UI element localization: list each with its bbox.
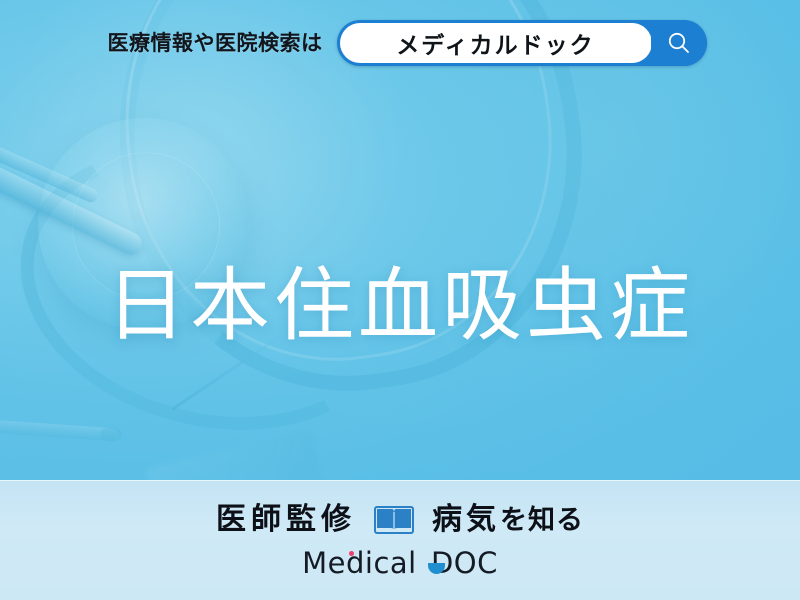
brand-logo-i-dot bbox=[349, 551, 354, 556]
know-disease-strong: 病気 bbox=[432, 503, 500, 536]
article-hero-card: 医療情報や医院検索は メディカルドック 日本住血吸虫症 医師監修 bbox=[0, 0, 800, 600]
search-submit-button[interactable] bbox=[651, 20, 707, 66]
search-input[interactable]: メディカルドック bbox=[340, 23, 652, 63]
page-title: 日本住血吸虫症 bbox=[106, 266, 694, 346]
brand-logo-row: Medical DOC bbox=[0, 543, 800, 583]
brand-logo-word-1: Medical bbox=[302, 546, 417, 580]
footer-tagline-row: 医師監修 病気を知る bbox=[0, 495, 800, 545]
know-disease-label: 病気を知る bbox=[432, 505, 584, 535]
footer-band: 医師監修 病気を知る Medical DOC bbox=[0, 480, 800, 600]
search-icon bbox=[666, 30, 692, 56]
open-book-icon bbox=[374, 504, 414, 536]
search-strip: 医療情報や医院検索は メディカルドック bbox=[0, 0, 800, 86]
search-box[interactable]: メディカルドック bbox=[337, 20, 707, 66]
know-disease-verb: 知る bbox=[528, 505, 584, 535]
brand-logo[interactable]: Medical DOC bbox=[302, 549, 498, 578]
search-lead-text: 医療情報や医院検索は bbox=[108, 33, 323, 54]
search-input-value: メディカルドック bbox=[396, 26, 594, 60]
doctor-supervised-label: 医師監修 bbox=[216, 505, 356, 535]
hero-title-area: 日本住血吸虫症 bbox=[0, 212, 800, 399]
know-disease-particle: を bbox=[500, 505, 528, 535]
